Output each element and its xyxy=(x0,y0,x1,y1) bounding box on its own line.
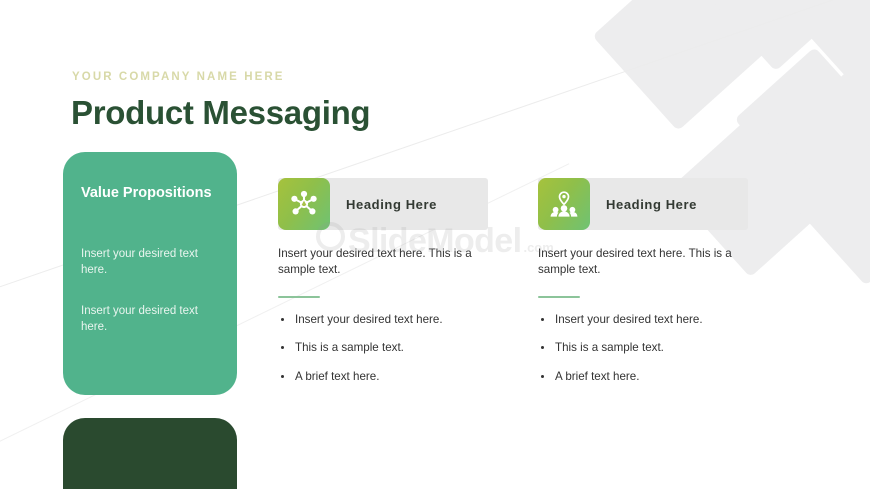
column-1-paragraph: Insert your desired text here. This is a… xyxy=(278,246,483,279)
mosaic-tile xyxy=(857,0,870,14)
value-propositions-title: Value Propositions xyxy=(81,184,221,203)
heading-card-2[interactable]: Heading Here xyxy=(538,178,748,230)
value-propositions-text-1: Insert your desired text here. xyxy=(81,247,226,278)
dark-green-panel[interactable] xyxy=(63,418,237,489)
column-1-divider xyxy=(278,296,320,299)
network-hub-icon xyxy=(278,178,330,230)
heading-card-2-title: Heading Here xyxy=(606,197,697,212)
column-2-paragraph: Insert your desired text here. This is a… xyxy=(538,246,743,279)
list-item: A brief text here. xyxy=(278,369,488,384)
company-name-eyebrow: YOUR COMPANY NAME HERE xyxy=(72,71,285,83)
mosaic-tile xyxy=(791,138,870,285)
mosaic-tile xyxy=(820,31,870,184)
mosaic-tile xyxy=(695,0,853,71)
column-2-bullet-list: Insert your desired text here. This is a… xyxy=(538,312,748,383)
mosaic-tile xyxy=(592,0,765,131)
list-item: A brief text here. xyxy=(538,369,748,384)
list-item: This is a sample text. xyxy=(278,340,488,355)
slide-canvas: YOUR COMPANY NAME HERE Product Messaging… xyxy=(0,0,870,489)
heading-card-1[interactable]: Heading Here xyxy=(278,178,488,230)
list-item: Insert your desired text here. xyxy=(538,312,748,327)
content-column-1: Heading Here Insert your desired text he… xyxy=(278,178,488,397)
people-location-icon xyxy=(538,178,590,230)
list-item: This is a sample text. xyxy=(538,340,748,355)
column-2-divider xyxy=(538,296,580,299)
heading-card-1-title: Heading Here xyxy=(346,197,437,212)
value-propositions-text-2: Insert your desired text here. xyxy=(81,304,226,335)
mosaic-tile xyxy=(781,0,870,88)
value-propositions-panel[interactable]: Value Propositions Insert your desired t… xyxy=(63,152,237,395)
mosaic-tile xyxy=(734,47,870,207)
column-1-bullet-list: Insert your desired text here. This is a… xyxy=(278,312,488,383)
page-title: Product Messaging xyxy=(71,94,370,132)
list-item: Insert your desired text here. xyxy=(278,312,488,327)
content-column-2: Heading Here Insert your desired text he… xyxy=(538,178,748,397)
